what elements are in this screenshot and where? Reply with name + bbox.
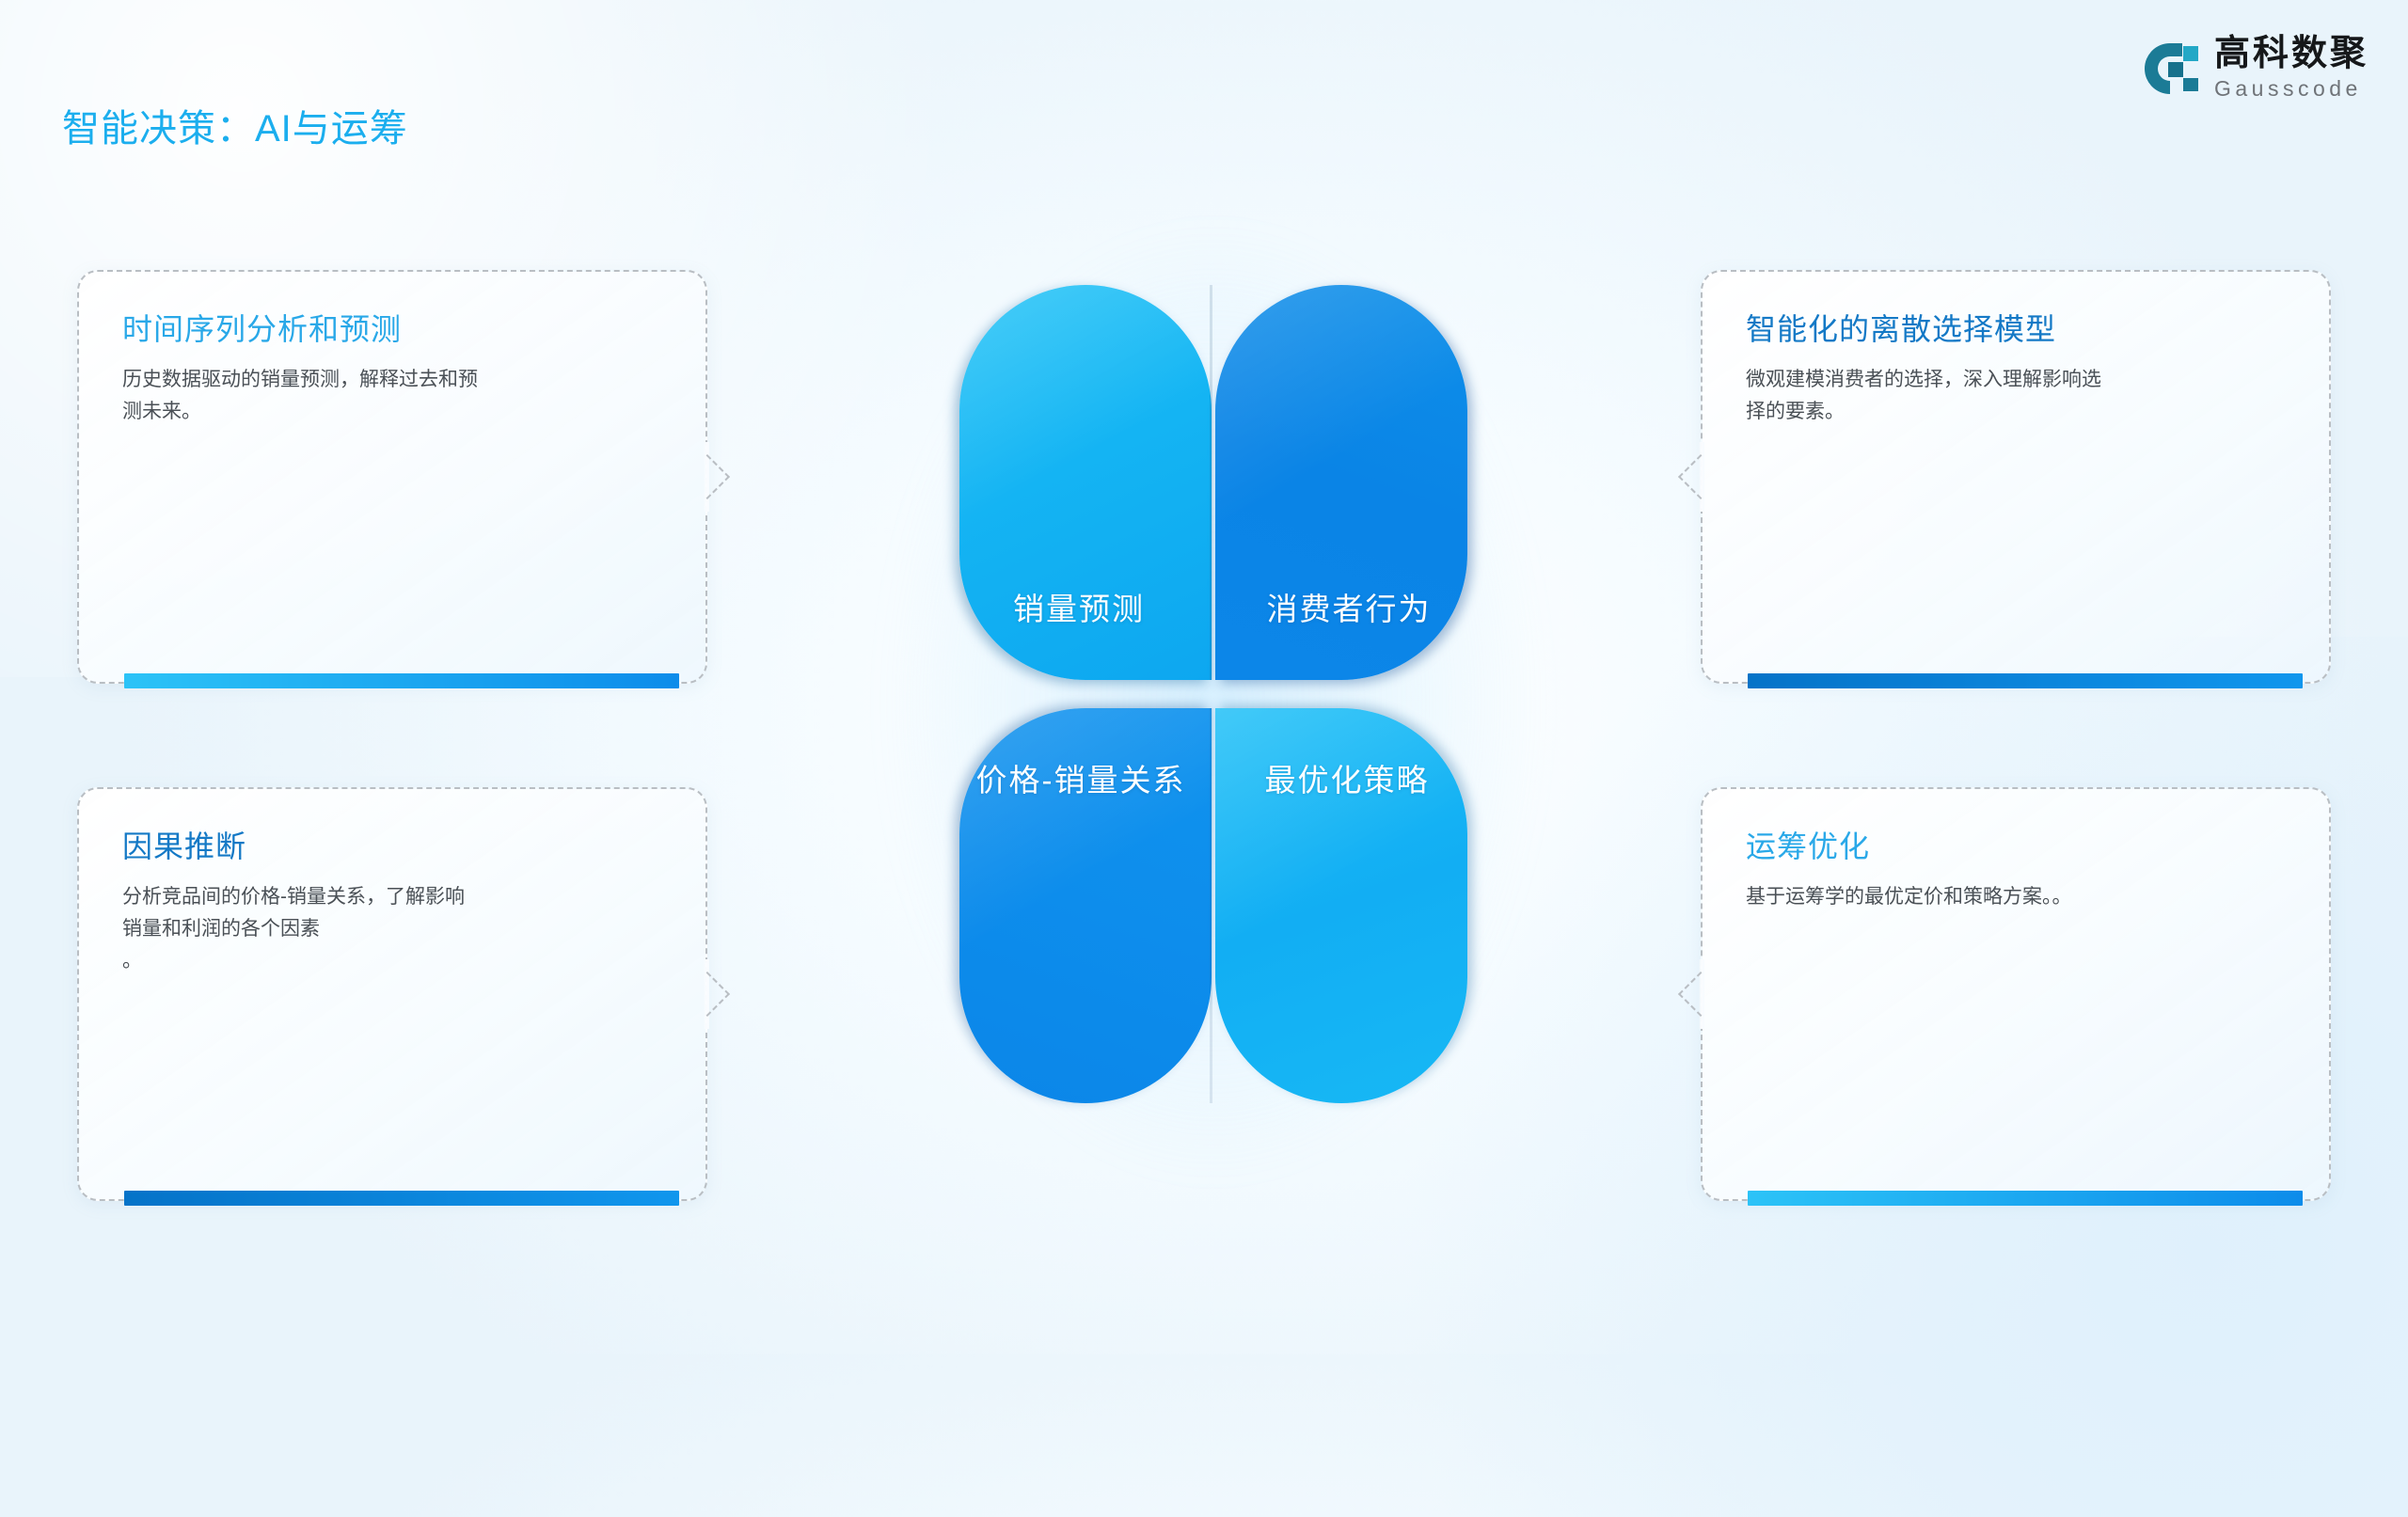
brand-logo: 高科数聚 Gausscode: [2141, 36, 2368, 103]
card-discrete-choice[interactable]: 智能化的离散选择模型 微观建模消费者的选择，深入理解影响选 择的要素。: [1701, 270, 2331, 684]
card-accent-bar: [1748, 673, 2303, 688]
petal-label: 最优化策略: [1265, 755, 1430, 800]
card-body: 基于运筹学的最优定价和策略方案。。: [1746, 881, 2286, 913]
gausscode-logo-icon: [2141, 40, 2199, 98]
petal-price-volume-relation[interactable]: 价格-销量关系: [959, 708, 1212, 1103]
card-title: 因果推断: [122, 829, 662, 864]
petal-optimization-strategy[interactable]: 最优化策略: [1215, 708, 1467, 1103]
card-time-series[interactable]: 时间序列分析和预测 历史数据驱动的销量预测，解释过去和预 测未来。: [77, 270, 707, 684]
card-title: 智能化的离散选择模型: [1746, 311, 2286, 347]
petal-label: 销量预测: [1013, 584, 1145, 629]
card-title: 时间序列分析和预测: [122, 311, 662, 347]
chevron-left-icon: [1678, 454, 1723, 499]
card-accent-bar: [124, 673, 679, 688]
card-body: 分析竞品间的价格-销量关系，了解影响 销量和利润的各个因素 。: [122, 881, 662, 977]
petal-sales-forecast[interactable]: 销量预测: [959, 285, 1212, 680]
logo-text: 高科数聚 Gausscode: [2214, 36, 2368, 103]
logo-name-cn: 高科数聚: [2214, 36, 2368, 71]
petal-consumer-behavior[interactable]: 消费者行为: [1215, 285, 1467, 680]
card-title: 运筹优化: [1746, 829, 2286, 864]
chevron-right-icon: [685, 454, 730, 499]
chevron-left-icon: [1678, 972, 1723, 1017]
chevron-right-icon: [685, 972, 730, 1017]
logo-name-en: Gausscode: [2214, 75, 2368, 103]
card-causal-inference[interactable]: 因果推断 分析竞品间的价格-销量关系，了解影响 销量和利润的各个因素 。: [77, 787, 707, 1201]
page-title: 智能决策：AI与运筹: [62, 98, 408, 152]
card-body: 微观建模消费者的选择，深入理解影响选 择的要素。: [1746, 364, 2286, 428]
petal-label: 价格-销量关系: [976, 755, 1186, 800]
four-petal-diagram: 销量预测 消费者行为 价格-销量关系 最优化策略: [959, 285, 1467, 1103]
card-body: 历史数据驱动的销量预测，解释过去和预 测未来。: [122, 364, 662, 428]
card-accent-bar: [124, 1191, 679, 1206]
card-accent-bar: [1748, 1191, 2303, 1206]
petal-label: 消费者行为: [1267, 584, 1432, 629]
card-operations-optimization[interactable]: 运筹优化 基于运筹学的最优定价和策略方案。。: [1701, 787, 2331, 1201]
